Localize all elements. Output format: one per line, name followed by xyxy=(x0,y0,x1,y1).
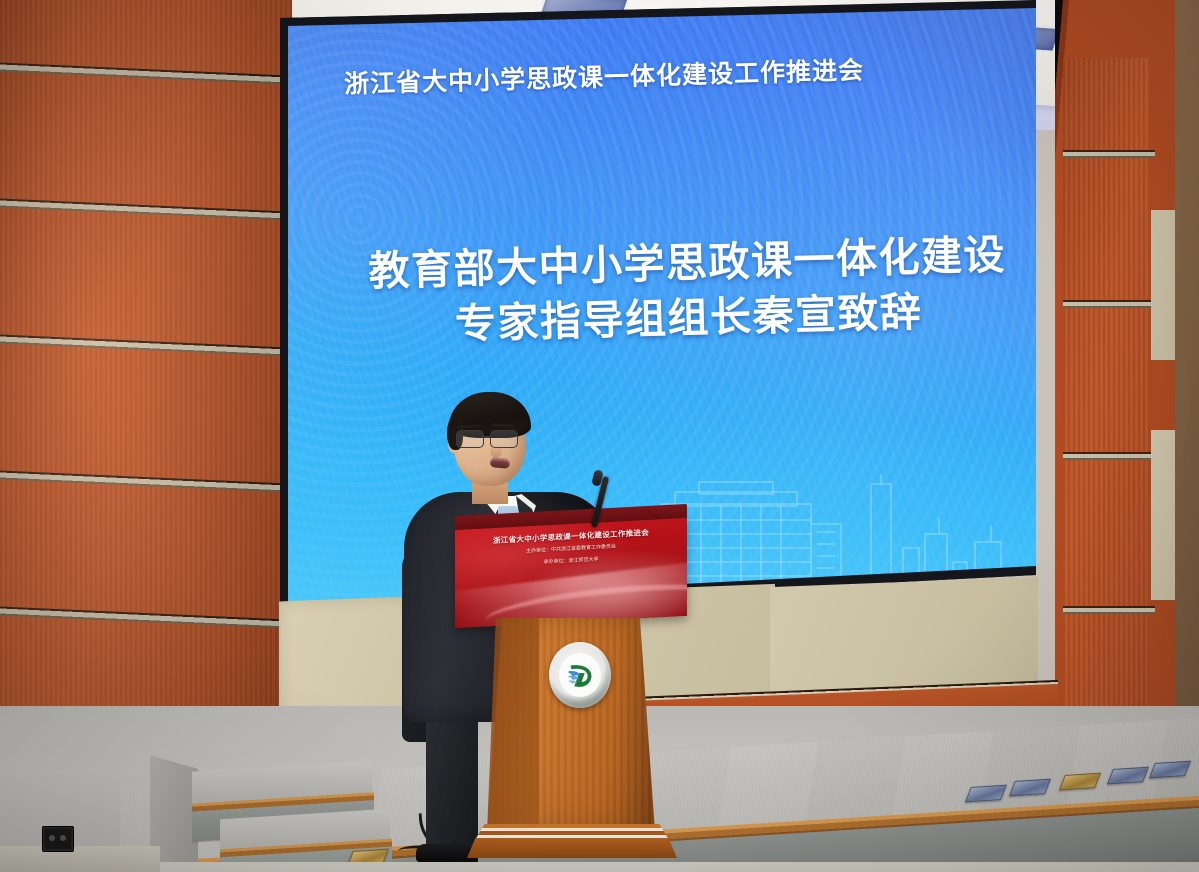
speaker-nose xyxy=(490,444,502,458)
university-crest-icon xyxy=(549,642,611,708)
wall-trim-strip xyxy=(0,62,292,86)
acoustic-panel-under-screen-right xyxy=(770,577,1038,699)
wall-trim-strip xyxy=(1063,452,1155,460)
wall-trim-strip xyxy=(0,198,292,222)
speaker-mouth xyxy=(490,457,511,469)
baseboard xyxy=(0,846,160,872)
wall-power-outlet-icon xyxy=(42,826,74,852)
wall-trim-strip xyxy=(1063,150,1155,158)
lectern: 浙江省大中小学思政课一体化建设工作推进会 主办单位：中共浙江省委教育工作委员会 … xyxy=(441,500,689,872)
conference-photo: 浙江省大中小学思政课一体化建设工作推进会 教育部大中小学思政课一体化建设 专家指… xyxy=(0,0,1199,872)
glasses-bridge xyxy=(482,436,490,438)
glasses-lens xyxy=(456,430,484,448)
screen-title: 教育部大中小学思政课一体化建设 专家指导组组长秦宣致辞 xyxy=(357,227,1020,353)
lectern-base-molding xyxy=(475,824,669,840)
floor-outlet-cover xyxy=(1009,779,1051,797)
floor-outlet-cover xyxy=(1149,761,1191,779)
wall-trim-strip xyxy=(1063,300,1155,308)
floor-outlet-cover xyxy=(1059,773,1101,791)
lectern-foot xyxy=(467,838,677,858)
floor-outlet-cover xyxy=(1107,767,1149,785)
crest-inner xyxy=(559,653,601,697)
wall-trim-strip xyxy=(0,334,292,358)
wall-trim-strip xyxy=(0,470,292,494)
wall-trim-strip xyxy=(1063,606,1155,614)
lectern-banner-panel xyxy=(455,518,687,628)
lectern-side-panel xyxy=(487,618,539,832)
floor-outlet-cover xyxy=(965,785,1007,803)
wall-trim-strip xyxy=(0,606,292,630)
